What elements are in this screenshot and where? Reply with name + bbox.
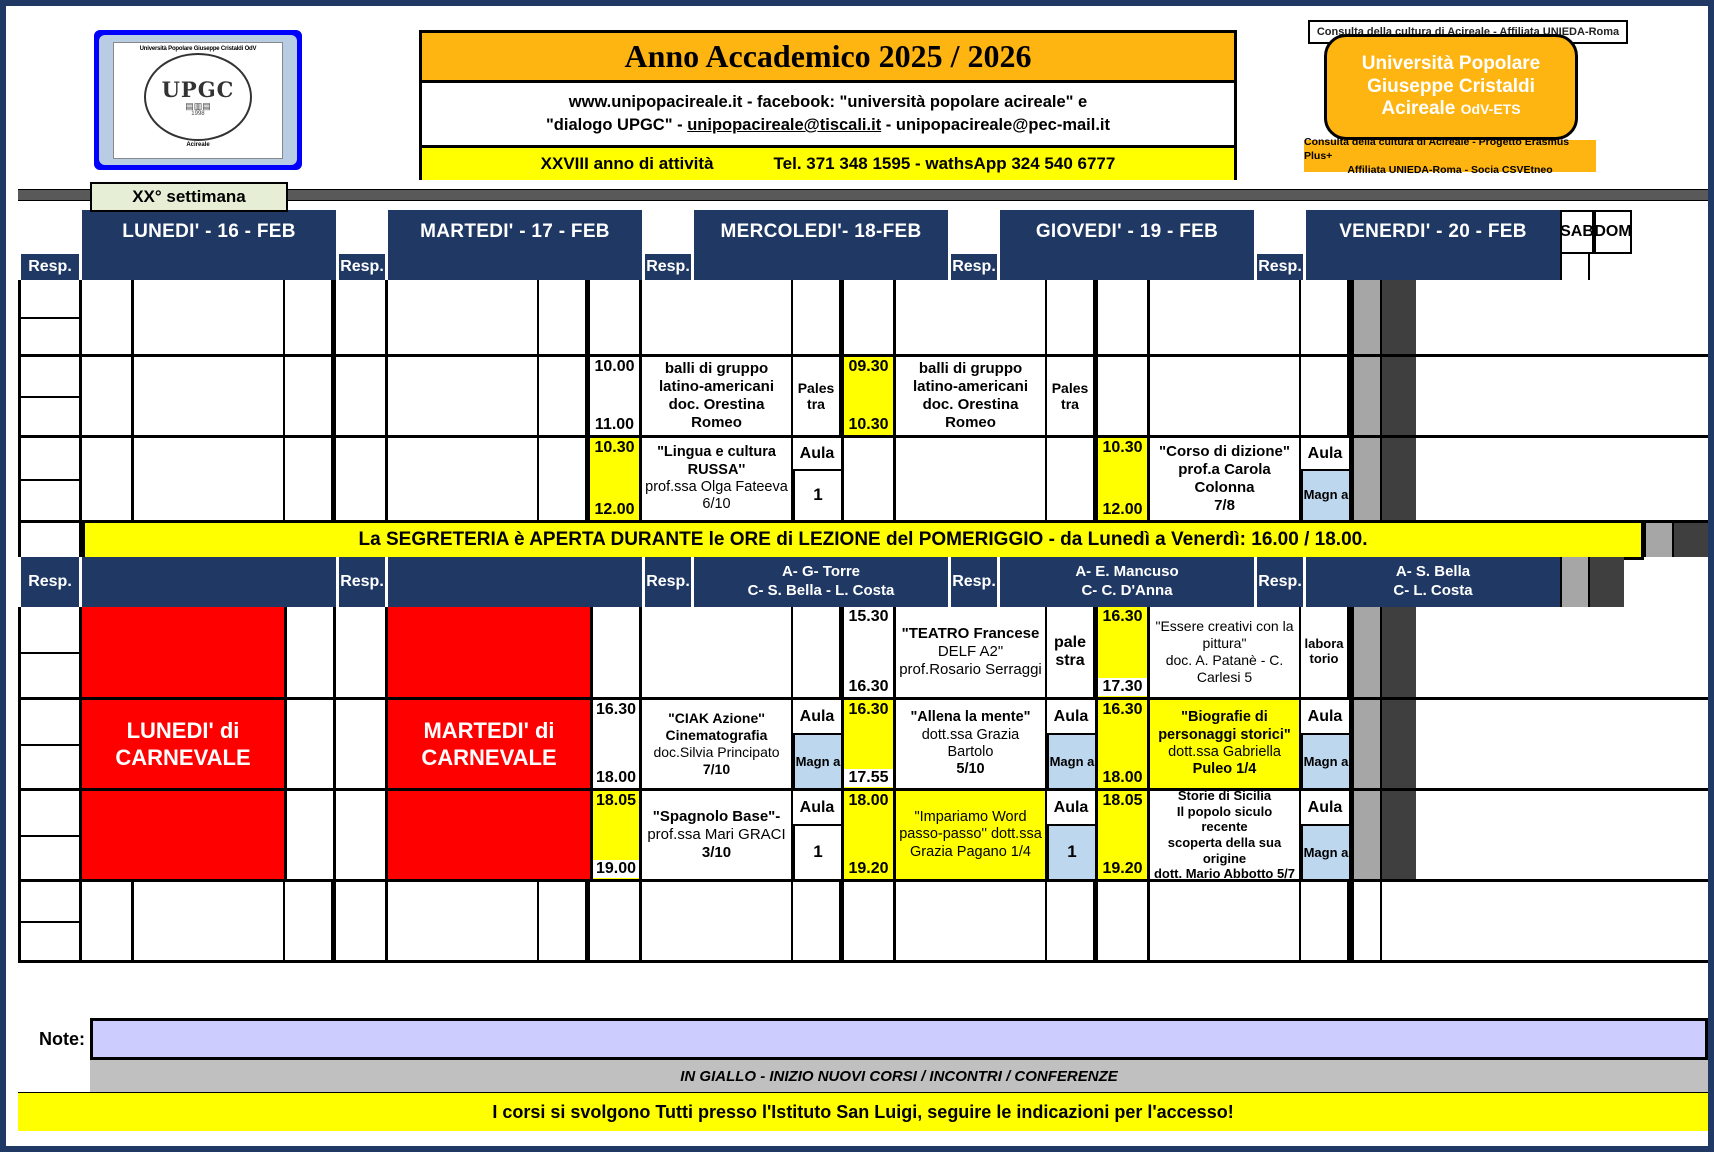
giovedi-teatro-room: pale stra: [1045, 607, 1095, 697]
morning-teacher-giovedi: [1000, 254, 1254, 280]
day-header-lunedi: LUNEDI' - 16 - FEB: [82, 210, 336, 254]
email-link[interactable]: unipopacireale@tiscali.it: [687, 116, 881, 134]
giovedi-word-room-bottom: 1: [1047, 824, 1095, 879]
mercoledi-russo-l2: RUSSA'': [688, 462, 746, 479]
venerdi-aft4-slot[interactable]: [1150, 882, 1352, 960]
lunedi-lingue-slot[interactable]: [134, 438, 336, 520]
week-number-badge: XX° settimana: [90, 182, 288, 212]
venerdi-dizione-l2: prof.a Carola Colonna: [1153, 461, 1296, 497]
venerdi-biografie-l2: personaggi storici": [1158, 727, 1291, 744]
morning-row-balli: 10.00 11.00 balli di gruppo latino-ameri…: [18, 357, 1708, 438]
mercoledi-balli-time: 10.00 11.00: [590, 357, 642, 435]
slot-martedi-empty-time: [336, 280, 388, 354]
segreteria-text: La SEGRETERIA è APERTA DURANTE le ORE di…: [359, 529, 1368, 551]
academic-year-text: Anno Accademico 2025 / 2026: [624, 38, 1031, 75]
mercoledi-ciak-room-top: Aula: [793, 700, 841, 733]
martedi-aft3-timeL: [336, 791, 388, 879]
mercoledi-ciak-l1: "CIAK Azione'': [668, 710, 765, 727]
afternoon-row-3: 18.05 19.00 "Spagnolo Base"- prof.ssa Ma…: [18, 791, 1708, 882]
mercoledi-ciak-l3: doc.Silvia Principato: [653, 744, 779, 761]
logo-top-text: Università Popolare Giuseppe Cristaldi O…: [140, 46, 257, 52]
giovedi-balli-l3: doc. Orestina Romeo: [899, 396, 1042, 432]
carnevale-martedi: [388, 607, 590, 697]
venerdi-biografie-slot[interactable]: "Biografie di personaggi storici" dott.s…: [1150, 700, 1352, 788]
aft-resp-giovedi: Resp.: [948, 557, 1000, 607]
years-active: XXVIII anno di attività: [541, 154, 714, 174]
giovedi-teatro-slot[interactable]: "TEATRO Francese DELF A2" prof.Rosario S…: [896, 607, 1098, 697]
giovedi-word-l1: "Impariamo Word: [914, 809, 1026, 826]
giovedi-allena-time: 16.30 17.55: [844, 700, 896, 788]
giovedi-teatro-l2: DELF A2": [938, 643, 1003, 661]
contact-lines: www.unipopacireale.it - facebook: "unive…: [422, 83, 1234, 148]
slot-giovedi-empty-time: [844, 280, 896, 354]
giovedi-balli-time: 09.30 10.30: [844, 357, 896, 435]
aft-resp-venerdi: Resp.: [1254, 557, 1306, 607]
morning-teacher-lunedi: [82, 254, 336, 280]
martedi-lingue-time: [336, 438, 388, 520]
aft-teacher-mercoledi: A- G- Torre C- S. Bella - L. Costa: [694, 557, 948, 607]
giovedi-allena-room: Aula Magn a: [1045, 700, 1095, 788]
mercoledi-ciak-l2: Cinematografia: [666, 727, 768, 744]
segreteria-banner: La SEGRETERIA è APERTA DURANTE le ORE di…: [82, 523, 1644, 560]
mercoledi-ciak-slot[interactable]: "CIAK Azione'' Cinematografia doc.Silvia…: [642, 700, 844, 788]
day-header-row: LUNEDI' - 16 - FEB MARTEDI' - 17 - FEB M…: [18, 210, 1708, 254]
afternoon-row-1: 15.30 16.30 "TEATRO Francese DELF A2" pr…: [18, 607, 1708, 700]
sab-cell-aftresp: [1560, 557, 1590, 607]
mercoledi-balli-slot[interactable]: balli di gruppo latino-americani doc. Or…: [642, 357, 844, 435]
aft-teacher-mercoledi-a: A- G- Torre: [782, 563, 860, 582]
venerdi-balli-time: [1098, 357, 1150, 435]
venerdi-biografie-l4: Puleo 1/4: [1193, 761, 1257, 778]
legend-spacer: [18, 1060, 90, 1092]
lunedi-aft4-slot[interactable]: [134, 882, 336, 960]
mercoledi-spagnolo-time: 18.05 19.00: [590, 791, 642, 879]
venue-banner: I corsi si svolgono Tutti presso l'Istit…: [18, 1092, 1708, 1131]
mercoledi-balli-end: 11.00: [590, 416, 639, 434]
carnevale-martedi-l2: CARNEVALE: [421, 744, 556, 772]
mercoledi-ciak-l4: 7/10: [703, 761, 730, 778]
lunedi-aft4-time: [82, 882, 134, 960]
mercoledi-balli-start: 10.00: [590, 358, 639, 376]
mercoledi-russo-l1: "Lingua e cultura: [657, 444, 776, 461]
venerdi-biografie-room: Aula Magn a: [1299, 700, 1349, 788]
day-header-martedi: MARTEDI' - 17 - FEB: [388, 210, 642, 254]
giovedi-allena-l3: 5/10: [956, 761, 984, 778]
giovedi-teatro-l3: prof.Rosario Serraggi: [899, 661, 1042, 679]
mercoledi-russo-end: 12.00: [590, 501, 639, 519]
mercoledi-russo-room: Aula 1: [791, 438, 841, 520]
venerdi-storie-l4: origine: [1203, 851, 1246, 867]
slot-mercoledi-empty[interactable]: [642, 280, 844, 354]
mercoledi-russo-slot[interactable]: "Lingua e cultura RUSSA'' prof.ssa Olga …: [642, 438, 844, 520]
mercoledi-spagnolo-l1: "Spagnolo Base"-: [653, 808, 781, 826]
venerdi-storie-l2: Il popolo siculo recente: [1153, 804, 1296, 835]
morning-resp-row: Resp. Resp. Resp. Resp. Resp.: [18, 254, 1708, 280]
mercoledi-spagnolo-room: Aula 1: [791, 791, 841, 879]
dom-cell-4: [1382, 607, 1416, 697]
venerdi-storie-start: 18.05: [1098, 792, 1147, 810]
venerdi-biografie-l3: dott.ssa Gabriella: [1168, 744, 1281, 761]
giovedi-teatro-start: 15.30: [844, 608, 893, 626]
venue-text: I corsi si svolgono Tutti presso l'Istit…: [492, 1102, 1233, 1123]
mercoledi-russo-start: 10.30: [590, 439, 639, 457]
lunedi-balli-slot[interactable]: [134, 357, 336, 435]
venerdi-pittura-l4: Carlesi 5: [1197, 669, 1252, 686]
martedi-aft1-timeL: [336, 607, 388, 697]
aft-resp-martedi: Resp.: [336, 557, 388, 607]
day-header-sabato: SAB: [1560, 210, 1594, 254]
giovedi-balli-room: Pales tra: [1045, 357, 1095, 435]
upgc-logo: Università Popolare Giuseppe Cristaldi O…: [94, 30, 302, 170]
resp-label-venerdi: Resp.: [1254, 254, 1306, 280]
martedi-aft4-slot[interactable]: [388, 882, 590, 960]
venerdi-biografie-start: 16.30: [1098, 701, 1147, 719]
carnevale-martedi-bottom: [388, 791, 590, 879]
mercoledi-ciak-room: Aula Magn a: [791, 700, 841, 788]
institution-line2: Giuseppe Cristaldi: [1367, 76, 1535, 98]
venerdi-pittura-l1: "Essere creativi con la: [1155, 618, 1293, 635]
giovedi-word-slot[interactable]: "Impariamo Word passo-passo'' dott.ssa G…: [896, 791, 1098, 879]
segreteria-row: La SEGRETERIA è APERTA DURANTE le ORE di…: [18, 523, 1708, 557]
mercoledi-ciak-room-bottom: Magn a: [793, 733, 841, 788]
venerdi-pittura-l2: pittura": [1203, 635, 1247, 652]
segreteria-spacer: [18, 523, 82, 557]
slot-lunedi-empty-time: [82, 280, 134, 354]
lunedi-balli-left: [18, 357, 82, 435]
venerdi-biografie-room-top: Aula: [1301, 700, 1349, 733]
day-header-venerdi: VENERDI' - 20 - FEB: [1306, 210, 1560, 254]
spacer-1: [336, 210, 388, 254]
giovedi-lingue-slot[interactable]: [896, 438, 1098, 520]
lunedi-aft2-time: [284, 700, 336, 788]
mercoledi-spagnolo-start: 18.05: [593, 792, 639, 810]
timetable-grid: LUNEDI' - 16 - FEB MARTEDI' - 17 - FEB M…: [18, 210, 1708, 963]
resp-label-martedi: Resp.: [336, 254, 388, 280]
venerdi-storie-slot[interactable]: Storie di Sicilia Il popolo siculo recen…: [1150, 791, 1352, 879]
venerdi-aft1-time: 16.30 17.30: [1098, 607, 1150, 697]
slot-venerdi-empty-time: [1098, 280, 1150, 354]
carnevale-lunedi: [82, 607, 284, 697]
resp-label-giovedi: Resp.: [948, 254, 1000, 280]
lunedi-balli-time: [82, 357, 134, 435]
lunedi-lingue-left: [18, 438, 82, 520]
institution-city: Acireale: [1381, 98, 1455, 119]
legend-row: IN GIALLO - INIZIO NUOVI CORSI / INCONTR…: [18, 1060, 1708, 1092]
mercoledi-russo-l3: prof.ssa Olga Fateeva: [645, 479, 788, 496]
sab-cell-seg: [1644, 523, 1674, 557]
carnevale-martedi-l1: MARTEDI' di: [423, 717, 554, 745]
martedi-balli-slot[interactable]: [388, 357, 590, 435]
venerdi-storie-room: Aula Magn a: [1299, 791, 1349, 879]
giovedi-teatro-l1: "TEATRO Francese: [902, 625, 1040, 643]
slot-giovedi-empty[interactable]: [896, 280, 1098, 354]
mercoledi-spagnolo-room-top: Aula: [793, 791, 841, 824]
martedi-balli-time: [336, 357, 388, 435]
martedi-lingue-slot[interactable]: [388, 438, 590, 520]
lunedi-lingue-time: [82, 438, 134, 520]
aft-teacher-venerdi-a: A- S. Bella: [1396, 563, 1470, 582]
page-footer: Note: IN GIALLO - INIZIO NUOVI CORSI / I…: [18, 1018, 1708, 1131]
sab-cell-3: [1352, 438, 1382, 520]
day-header-mercoledi: MERCOLEDI'- 18-FEB: [694, 210, 948, 254]
mercoledi-ciak-time: 16.30 18.00: [590, 700, 642, 788]
mercoledi-aft4-slot[interactable]: [642, 882, 844, 960]
aft-teacher-lunedi: [82, 557, 336, 607]
giovedi-allena-start: 16.30: [844, 701, 893, 719]
giovedi-balli-slot[interactable]: balli di gruppo latino-americani doc. Or…: [896, 357, 1098, 435]
lunedi-aft3-left: [18, 791, 82, 879]
venerdi-dizione-end: 12.00: [1098, 501, 1147, 519]
mercoledi-russo-room-bottom: 1: [793, 469, 841, 520]
giovedi-aft1-time: 15.30 16.30: [844, 607, 896, 697]
giovedi-balli-l2: latino-americani: [913, 378, 1028, 396]
carnevale-martedi-mid: MARTEDI' di CARNEVALE: [388, 700, 590, 788]
lunedi-aft1-left: [18, 607, 82, 697]
affiliation-line2: Affiliata UNIEDA-Roma - Socia CSVEtneo: [1347, 163, 1552, 177]
slot-lunedi-empty[interactable]: [134, 280, 336, 354]
giovedi-balli-end: 10.30: [844, 416, 893, 434]
academic-year-banner: Anno Accademico 2025 / 2026: [422, 33, 1234, 83]
dom-cell-5: [1382, 700, 1416, 788]
sab-cell-4: [1352, 607, 1382, 697]
aft-teacher-giovedi-a: A- E. Mancuso: [1075, 563, 1178, 582]
mercoledi-ciak-end: 18.00: [593, 769, 639, 787]
institution-line3: Acireale OdV-ETS: [1381, 98, 1520, 120]
venerdi-pittura-end: 17.30: [1098, 678, 1147, 696]
resp-label-mercoledi: Resp.: [642, 254, 694, 280]
giovedi-word-l3: Grazia Pagano 1/4: [910, 844, 1031, 861]
sab-cell-2: [1352, 357, 1382, 435]
giovedi-word-start: 18.00: [844, 792, 893, 810]
lunedi-aft2-left: [18, 700, 82, 788]
dom-cell-3: [1382, 438, 1416, 520]
spacer-3: [948, 210, 1000, 254]
mercoledi-russo-room-top: Aula: [793, 438, 841, 469]
lunedi-aft4-left: [18, 882, 82, 960]
affiliation-footer: Consulta della cultura di Acireale - Pro…: [1304, 140, 1596, 172]
venerdi-dizione-l1: "Corso di dizione": [1159, 443, 1290, 461]
aft-teacher-mercoledi-c: C- S. Bella - L. Costa: [748, 582, 895, 601]
website-line: www.unipopacireale.it - facebook: "unive…: [569, 93, 1087, 112]
venerdi-pittura-slot[interactable]: "Essere creativi con la pittura" doc. A.…: [1150, 607, 1352, 697]
venerdi-storie-end: 19.20: [1098, 860, 1147, 878]
timetable-page: Università Popolare Giuseppe Cristaldi O…: [0, 0, 1714, 1152]
email-line: "dialogo UPGC" - unipopacireale@tiscali.…: [546, 116, 1110, 135]
dom-cell-6: [1382, 791, 1416, 879]
slot-lunedi-empty-left: [18, 280, 82, 354]
giovedi-word-room-top: Aula: [1047, 791, 1095, 824]
giovedi-allena-room-top: Aula: [1047, 700, 1095, 733]
mercoledi-spagnolo-l2: prof.ssa Mari GRACI: [647, 826, 785, 844]
morning-row-lingue: 10.30 12.00 "Lingua e cultura RUSSA'' pr…: [18, 438, 1708, 523]
sab-cell-1: [1352, 280, 1382, 354]
legend-text: IN GIALLO - INIZIO NUOVI CORSI / INCONTR…: [90, 1060, 1708, 1092]
venerdi-dizione-time: 10.30 12.00: [1098, 438, 1150, 520]
giovedi-word-l2: passo-passo'' dott.ssa: [899, 826, 1042, 843]
venerdi-dizione-l3: 7/8: [1214, 497, 1235, 515]
mercoledi-spagnolo-slot[interactable]: "Spagnolo Base"- prof.ssa Mari GRACI 3/1…: [642, 791, 844, 879]
mercoledi-spagnolo-room-bottom: 1: [793, 824, 841, 879]
lunedi-aft1-time: [284, 607, 336, 697]
mercoledi-spagnolo-l3: 3/10: [702, 844, 731, 862]
venerdi-dizione-room-top: Aula: [1301, 438, 1349, 469]
mercoledi-spagnolo-end: 19.00: [593, 860, 639, 878]
carnevale-lunedi-l1: LUNEDI' di: [127, 717, 240, 745]
afternoon-row-2: LUNEDI' di CARNEVALE MARTEDI' di CARNEVA…: [18, 700, 1708, 791]
resp-label-lunedi: Resp.: [18, 254, 82, 280]
email-line-post: - unipopacireale@pec-mail.it: [886, 116, 1110, 134]
institution-line1: Università Popolare: [1362, 53, 1540, 75]
giovedi-teatro-end: 16.30: [844, 678, 893, 696]
aft-teacher-giovedi-c: C- C. D'Anna: [1081, 582, 1172, 601]
giovedi-word-time: 18.00 19.20: [844, 791, 896, 879]
aft-teacher-martedi: [388, 557, 642, 607]
martedi-aft2-timeL: [336, 700, 388, 788]
books-icon: ▤▥▤: [185, 102, 211, 111]
aft-teacher-giovedi: A- E. Mancuso C- C. D'Anna: [1000, 557, 1254, 607]
day-header-giovedi: GIOVEDI' - 19 - FEB: [1000, 210, 1254, 254]
giovedi-aft4-time: [844, 882, 896, 960]
dom-cell-1: [1382, 280, 1416, 354]
mercoledi-ciak-start: 16.30: [593, 701, 639, 719]
sab-cell-6: [1352, 791, 1382, 879]
dom-cell-7: [1382, 882, 1416, 960]
years-phone-banner: XXVIII anno di attività Tel. 371 348 159…: [422, 148, 1234, 180]
note-row: Note:: [18, 1018, 1708, 1060]
sab-cell-7: [1352, 882, 1382, 960]
venerdi-storie-l1: Storie di Sicilia: [1178, 788, 1271, 804]
giovedi-aft4-slot[interactable]: [896, 882, 1098, 960]
mercoledi-balli-room: Pales tra: [791, 357, 841, 435]
giovedi-allena-l1: "Allena la mente": [910, 709, 1030, 726]
day-header-domenica: DOM: [1594, 210, 1632, 254]
giovedi-allena-end: 17.55: [844, 769, 893, 787]
logo-year: 1998: [191, 111, 204, 117]
dom-resp: [1590, 254, 1624, 280]
venerdi-dizione-room: Aula Magn a: [1299, 438, 1349, 520]
venerdi-pittura-start: 16.30: [1098, 608, 1147, 626]
venerdi-pittura-l3: doc. A. Patanè - C.: [1166, 652, 1284, 669]
venerdi-dizione-start: 10.30: [1098, 439, 1147, 457]
venerdi-storie-room-top: Aula: [1301, 791, 1349, 824]
mercoledi-balli-l1: balli di gruppo: [665, 360, 768, 378]
carnevale-lunedi-mid: LUNEDI' di CARNEVALE: [82, 700, 284, 788]
carnevale-lunedi-l2: CARNEVALE: [115, 744, 250, 772]
giovedi-word-end: 19.20: [844, 860, 893, 878]
phone-number: Tel. 371 348 1595 - wathsApp 324 540 677…: [774, 154, 1116, 174]
mercoledi-russo-time: 10.30 12.00: [590, 438, 642, 520]
institution-suffix: OdV-ETS: [1461, 101, 1521, 117]
mercoledi-balli-l3: doc. Orestina Romeo: [645, 396, 788, 432]
afternoon-row-empty: [18, 882, 1708, 963]
morning-teacher-martedi: [388, 254, 642, 280]
slot-venerdi-empty[interactable]: [1150, 280, 1352, 354]
carnevale-lunedi-bottom: [82, 791, 284, 879]
giovedi-allena-l2: dott.ssa Grazia Bartolo: [899, 727, 1042, 762]
giovedi-allena-slot[interactable]: "Allena la mente" dott.ssa Grazia Bartol…: [896, 700, 1098, 788]
aft-resp-lunedi: Resp.: [18, 557, 82, 607]
dom-cell-aftresp: [1590, 557, 1624, 607]
giovedi-balli-start: 09.30: [844, 358, 893, 376]
martedi-aft1-time: [590, 607, 642, 697]
mercoledi-aft4-time: [590, 882, 642, 960]
venerdi-storie-l5: dott. Mario Abbotto 5/7: [1154, 866, 1295, 882]
giovedi-word-room: Aula 1: [1045, 791, 1095, 879]
venerdi-dizione-slot[interactable]: "Corso di dizione" prof.a Carola Colonna…: [1150, 438, 1352, 520]
venerdi-storie-time: 18.05 19.20: [1098, 791, 1150, 879]
mercoledi-aft1-slot[interactable]: [642, 607, 844, 697]
venerdi-aft4-time: [1098, 882, 1150, 960]
note-label: Note:: [18, 1018, 90, 1060]
logo-acronym: UPGC: [162, 77, 235, 102]
dom-cell-seg: [1674, 523, 1708, 557]
institution-badge: Università Popolare Giuseppe Cristaldi A…: [1324, 34, 1578, 140]
giovedi-allena-room-bottom: Magn a: [1047, 733, 1095, 788]
slot-martedi-empty[interactable]: [388, 280, 590, 354]
spacer-left: [18, 210, 82, 254]
institution-block: Consulta della cultura di Acireale - Aff…: [1296, 16, 1632, 196]
sab-resp: [1560, 254, 1590, 280]
mercoledi-balli-l2: latino-americani: [659, 378, 774, 396]
martedi-aft4-time: [336, 882, 388, 960]
spacer-4: [1254, 210, 1306, 254]
giovedi-lingue-time: [844, 438, 896, 520]
venerdi-biografie-end: 18.00: [1098, 769, 1147, 787]
aft-teacher-venerdi-c: C- L. Costa: [1393, 582, 1472, 601]
venerdi-balli-slot[interactable]: [1150, 357, 1352, 435]
logo-bottom-text: Acireale: [186, 142, 209, 148]
lunedi-aft3-time: [284, 791, 336, 879]
venerdi-biografie-room-bottom: Magn a: [1301, 733, 1349, 788]
venerdi-biografie-time: 16.30 18.00: [1098, 700, 1150, 788]
sab-cell-5: [1352, 700, 1382, 788]
venerdi-biografie-l1: "Biografie di: [1181, 709, 1268, 726]
morning-row-empty: [18, 280, 1708, 357]
mercoledi-russo-l4: 6/10: [702, 496, 730, 513]
aft-teacher-venerdi: A- S. Bella C- L. Costa: [1306, 557, 1560, 607]
affiliation-line1: Consulta della cultura di Acireale - Pro…: [1304, 135, 1596, 163]
morning-teacher-venerdi: [1306, 254, 1560, 280]
note-input[interactable]: [90, 1018, 1708, 1060]
venerdi-storie-l3: scoperta della sua: [1168, 835, 1281, 851]
morning-teacher-mercoledi: [694, 254, 948, 280]
venerdi-dizione-room-bottom: Magn a: [1301, 469, 1349, 520]
venerdi-storie-room-bottom: Magn a: [1301, 824, 1349, 879]
spacer-2: [642, 210, 694, 254]
afternoon-resp-row: Resp. Resp. Resp. A- G- Torre C- S. Bell…: [18, 557, 1708, 607]
email-line-pre: "dialogo UPGC" -: [546, 116, 683, 134]
slot-mercoledi-empty-time: [590, 280, 642, 354]
venerdi-pittura-room: labora torio: [1299, 607, 1349, 697]
aft-resp-mercoledi: Resp.: [642, 557, 694, 607]
giovedi-balli-l1: balli di gruppo: [919, 360, 1022, 378]
logo-oval-icon: UPGC ▤▥▤ 1998: [144, 53, 252, 141]
page-header: Università Popolare Giuseppe Cristaldi O…: [6, 6, 1708, 196]
dom-cell-2: [1382, 357, 1416, 435]
title-block: Anno Accademico 2025 / 2026 www.unipopac…: [419, 30, 1237, 180]
